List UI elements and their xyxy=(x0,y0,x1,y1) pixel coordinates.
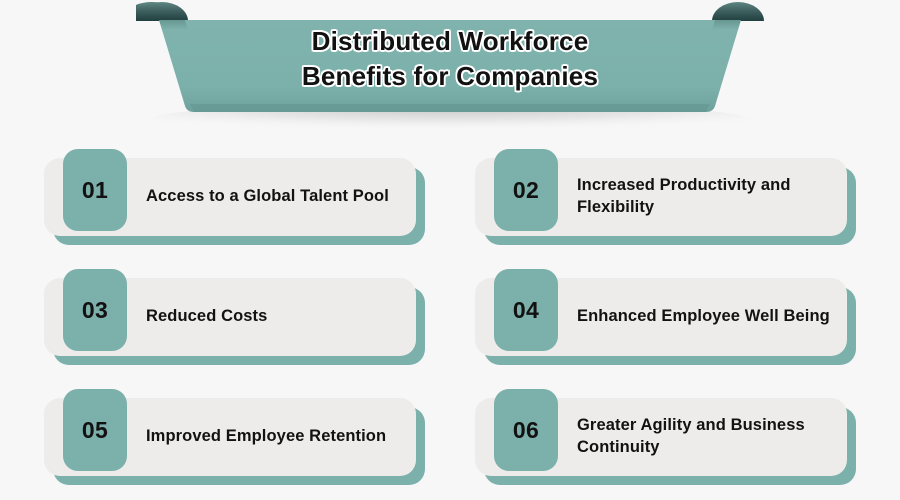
card-number-badge-04: 04 xyxy=(494,269,558,351)
benefit-card-02[interactable]: 02 Increased Productivity and Flexibilit… xyxy=(475,158,847,236)
benefits-grid: 01 Access to a Global Talent Pool 02 Inc… xyxy=(0,140,900,500)
page-title: Distributed Workforce Benefits for Compa… xyxy=(190,24,710,94)
benefit-card-03[interactable]: 03 Reduced Costs xyxy=(44,278,416,356)
card-label-04: Enhanced Employee Well Being xyxy=(577,278,835,356)
card-number-badge-05: 05 xyxy=(63,389,127,471)
card-label-01: Access to a Global Talent Pool xyxy=(146,158,404,236)
banner-tail-right xyxy=(712,2,764,21)
card-number-05: 05 xyxy=(82,417,108,444)
card-number-02: 02 xyxy=(513,177,539,204)
benefit-card-04[interactable]: 04 Enhanced Employee Well Being xyxy=(475,278,847,356)
card-number-badge-01: 01 xyxy=(63,149,127,231)
card-number-04: 04 xyxy=(513,297,539,324)
card-number-badge-03: 03 xyxy=(63,269,127,351)
card-number-badge-02: 02 xyxy=(494,149,558,231)
card-number-06: 06 xyxy=(513,417,539,444)
header-banner: Distributed Workforce Benefits for Compa… xyxy=(0,0,900,140)
card-label-02: Increased Productivity and Flexibility xyxy=(577,158,835,236)
card-number-badge-06: 06 xyxy=(494,389,558,471)
card-label-03: Reduced Costs xyxy=(146,278,404,356)
card-number-03: 03 xyxy=(82,297,108,324)
card-number-01: 01 xyxy=(82,177,108,204)
card-label-06: Greater Agility and Business Continuity xyxy=(577,398,835,476)
benefit-card-06[interactable]: 06 Greater Agility and Business Continui… xyxy=(475,398,847,476)
benefit-card-01[interactable]: 01 Access to a Global Talent Pool xyxy=(44,158,416,236)
card-label-05: Improved Employee Retention xyxy=(146,398,404,476)
benefit-card-05[interactable]: 05 Improved Employee Retention xyxy=(44,398,416,476)
